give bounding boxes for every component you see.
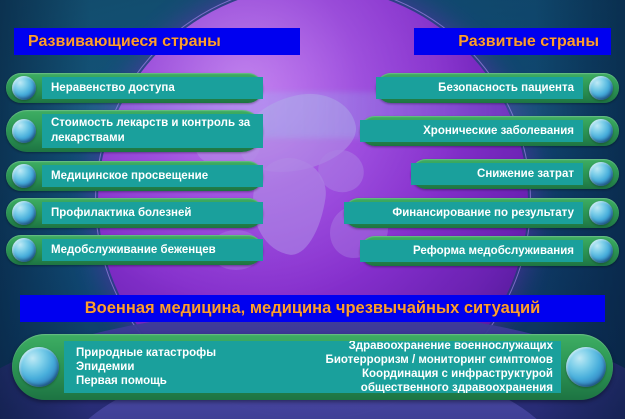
- list-item-label: Реформа медобслуживания: [360, 240, 583, 262]
- header-military-emergency-medicine: Военная медицина, медицина чрезвычайных …: [20, 295, 605, 322]
- list-item[interactable]: Неравенство доступа: [6, 73, 263, 103]
- bullet-sphere-icon: [566, 347, 606, 387]
- list-item[interactable]: Профилактика болезней: [6, 198, 263, 228]
- bottom-panel-right-line: Координация с инфраструктурой: [362, 367, 553, 381]
- list-item-label: Снижение затрат: [411, 163, 583, 185]
- list-item[interactable]: Стоимость лекарств и контроль за лекарст…: [6, 110, 263, 152]
- bottom-panel-left-line: Первая помощь: [76, 374, 167, 388]
- bullet-sphere-icon: [12, 201, 36, 225]
- bullet-sphere-icon: [12, 76, 36, 100]
- bullet-sphere-icon: [12, 164, 36, 188]
- list-item[interactable]: Финансирование по результату: [344, 198, 619, 228]
- bullet-sphere-icon: [589, 239, 613, 263]
- list-item[interactable]: Хронические заболевания: [360, 116, 619, 146]
- slide-canvas: Развивающиеся страны Развитые страны Нер…: [0, 0, 625, 419]
- list-item[interactable]: Безопасность пациента: [376, 73, 619, 103]
- bottom-panel-left-line: Эпидемии: [76, 360, 134, 374]
- list-item-label: Профилактика болезней: [42, 202, 263, 224]
- list-item-label: Финансирование по результату: [344, 202, 583, 224]
- bottom-panel[interactable]: Природные катастрофы Эпидемии Первая пом…: [12, 334, 613, 400]
- list-item-label: Стоимость лекарств и контроль за лекарст…: [42, 114, 263, 148]
- bullet-sphere-icon: [589, 162, 613, 186]
- header-developing-countries: Развивающиеся страны: [14, 28, 300, 55]
- bottom-panel-left-line: Природные катастрофы: [76, 346, 216, 360]
- header-developed-countries: Развитые страны: [414, 28, 611, 55]
- bullet-sphere-icon: [12, 119, 36, 143]
- list-item-label: Медицинское просвещение: [42, 165, 263, 187]
- bottom-panel-right-line: общественного здравоохранения: [361, 381, 553, 393]
- bottom-panel-right-column: Здравоохранение военнослужащих Биотеррор…: [293, 341, 561, 393]
- list-item[interactable]: Медобслуживание беженцев: [6, 235, 263, 265]
- list-item-label: Медобслуживание беженцев: [42, 239, 263, 261]
- bullet-sphere-icon: [589, 119, 613, 143]
- bottom-panel-left-column: Природные катастрофы Эпидемии Первая пом…: [64, 341, 293, 393]
- list-item-label: Неравенство доступа: [42, 77, 263, 99]
- list-item[interactable]: Медицинское просвещение: [6, 161, 263, 191]
- bullet-sphere-icon: [589, 76, 613, 100]
- bullet-sphere-icon: [589, 201, 613, 225]
- bullet-sphere-icon: [19, 347, 59, 387]
- bottom-panel-body: Природные катастрофы Эпидемии Первая пом…: [64, 341, 561, 393]
- bottom-panel-right-line: Здравоохранение военнослужащих: [349, 341, 553, 353]
- list-item-label: Хронические заболевания: [360, 120, 583, 142]
- list-item-label: Безопасность пациента: [376, 77, 583, 99]
- bullet-sphere-icon: [12, 238, 36, 262]
- list-item[interactable]: Снижение затрат: [411, 159, 619, 189]
- bottom-panel-right-line: Биотерроризм / мониторинг симптомов: [326, 353, 553, 367]
- list-item[interactable]: Реформа медобслуживания: [360, 236, 619, 266]
